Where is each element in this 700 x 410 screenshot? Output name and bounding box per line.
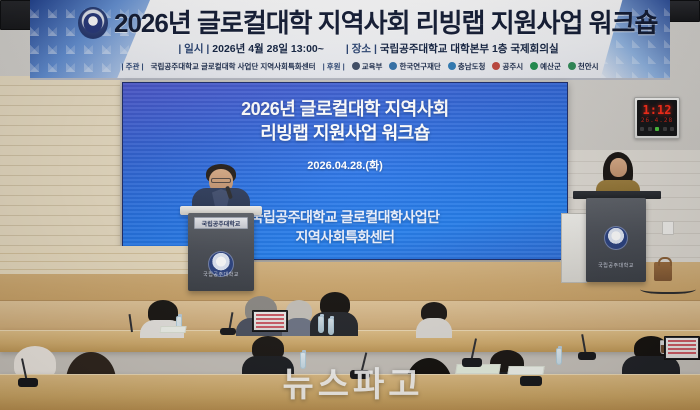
wall-outlet xyxy=(662,221,674,235)
university-emblem-icon xyxy=(604,226,628,250)
sponsor-name: 공주시 xyxy=(502,61,523,72)
clock-indicator xyxy=(663,127,667,131)
banner-info-line: | 일시 | 2026년 4월 28일 13:00~ | 장소 | 국립공주대학… xyxy=(96,40,641,56)
host-label: | 주관 | xyxy=(121,61,143,72)
handbag xyxy=(654,262,672,281)
clock-indicator xyxy=(648,127,652,131)
glasses-icon xyxy=(211,178,231,183)
lectern-name-sign: 국립공주대학교 xyxy=(194,217,248,229)
sponsor-logo-icon xyxy=(530,62,538,70)
water-bottle xyxy=(300,352,306,369)
led-wall-clock: 1:12 26.4.28 xyxy=(634,97,680,139)
banner-place: | 장소 | 국립공주대학교 대학본부 1층 국제회의실 xyxy=(346,41,559,56)
sponsor-item: 한국연구재단 xyxy=(389,61,440,72)
desk-microphone xyxy=(350,370,370,379)
banner-title: 2026년 글로컬대학 지역사회 리빙랩 지원사업 워크숍 xyxy=(114,2,614,40)
ceiling-speaker-far-right xyxy=(668,0,700,22)
sponsor-name: 교육부 xyxy=(362,61,383,72)
sponsor-logo-icon xyxy=(568,62,576,70)
desk-microphone xyxy=(462,358,482,367)
sponsor-logo-icon xyxy=(389,62,397,70)
sponsor-name: 천안시 xyxy=(578,61,599,72)
sponsor-logo-icon xyxy=(352,62,360,70)
university-emblem-icon xyxy=(78,7,108,39)
desk-microphone xyxy=(220,328,236,335)
water-bottle xyxy=(556,348,562,365)
sponsor-item: 충남도청 xyxy=(448,61,486,72)
laptop xyxy=(252,310,288,332)
paper-sheet xyxy=(159,326,186,333)
place-label: | 장소 | xyxy=(346,43,377,55)
audience-desk-row-2 xyxy=(0,374,700,410)
clock-indicator xyxy=(670,127,674,131)
place-value: 국립공주대학교 대학본부 1층 국제회의실 xyxy=(380,43,559,55)
clock-time: 1:12 xyxy=(637,103,677,117)
laptop-screen xyxy=(666,338,698,358)
lectern-right: 국립공주대학교 xyxy=(586,198,646,282)
laptop-screen xyxy=(254,312,286,330)
sponsor-item: 교육부 xyxy=(352,61,383,72)
sponsor-name: 예산군 xyxy=(540,61,561,72)
paper-sheet xyxy=(507,366,544,375)
slide-title: 2026년 글로컬대학 지역사회 리빙랩 지원사업 워크숍 xyxy=(123,97,567,145)
clock-face: 1:12 26.4.28 xyxy=(637,100,677,136)
clock-indicator-active xyxy=(655,127,659,131)
water-bottle xyxy=(328,318,334,335)
desk-microphone xyxy=(578,352,596,360)
laptop xyxy=(664,336,700,360)
clock-indicator xyxy=(640,127,644,131)
lectern-side-table xyxy=(561,213,587,283)
head xyxy=(610,158,627,177)
sponsor-item: 예산군 xyxy=(530,61,561,72)
conference-photo: 2026년 글로컬대학 지역사회 리빙랩 지원사업 워크숍 | 일시 | 202… xyxy=(0,0,700,410)
sponsor-name: 한국연구재단 xyxy=(399,61,440,72)
torso xyxy=(416,318,452,338)
datetime-label: | 일시 | xyxy=(178,43,209,55)
banner-datetime: | 일시 | 2026년 4월 28일 13:00~ xyxy=(178,41,324,56)
clock-date: 26.4.28 xyxy=(637,117,677,124)
sponsor-label: | 후원 | xyxy=(323,61,345,72)
event-banner: 2026년 글로컬대학 지역사회 리빙랩 지원사업 워크숍 | 일시 | 202… xyxy=(30,0,670,80)
sponsor-item: 공주시 xyxy=(492,61,523,72)
slide-title-line2: 리빙랩 지원사업 워크숍 xyxy=(123,121,567,145)
sponsor-item: 천안시 xyxy=(568,61,599,72)
lectern-label: 국립공주대학교 xyxy=(586,262,646,269)
banner-credits-line: | 주관 | 국립공주대학교 글로컬대학 사업단 지역사회특화센터 | 후원 |… xyxy=(80,58,640,74)
desk-microphone xyxy=(18,378,38,387)
water-bottle xyxy=(318,316,324,333)
slide-title-line1: 2026년 글로컬대학 지역사회 xyxy=(123,97,567,121)
sponsor-logo-icon xyxy=(448,62,456,70)
desk-microphone xyxy=(520,376,542,386)
attendee xyxy=(416,302,452,334)
host-value: 국립공주대학교 글로컬대학 사업단 지역사회특화센터 xyxy=(151,61,316,72)
lectern-label: 국립공주대학교 xyxy=(188,271,254,278)
sponsor-name: 충남도청 xyxy=(458,61,486,72)
attendee xyxy=(242,336,294,376)
datetime-value: 2026년 4월 28일 13:00~ xyxy=(212,43,324,55)
sponsor-logo-icon xyxy=(492,62,500,70)
clock-indicator-row xyxy=(640,127,674,132)
floor-cable xyxy=(640,282,696,294)
